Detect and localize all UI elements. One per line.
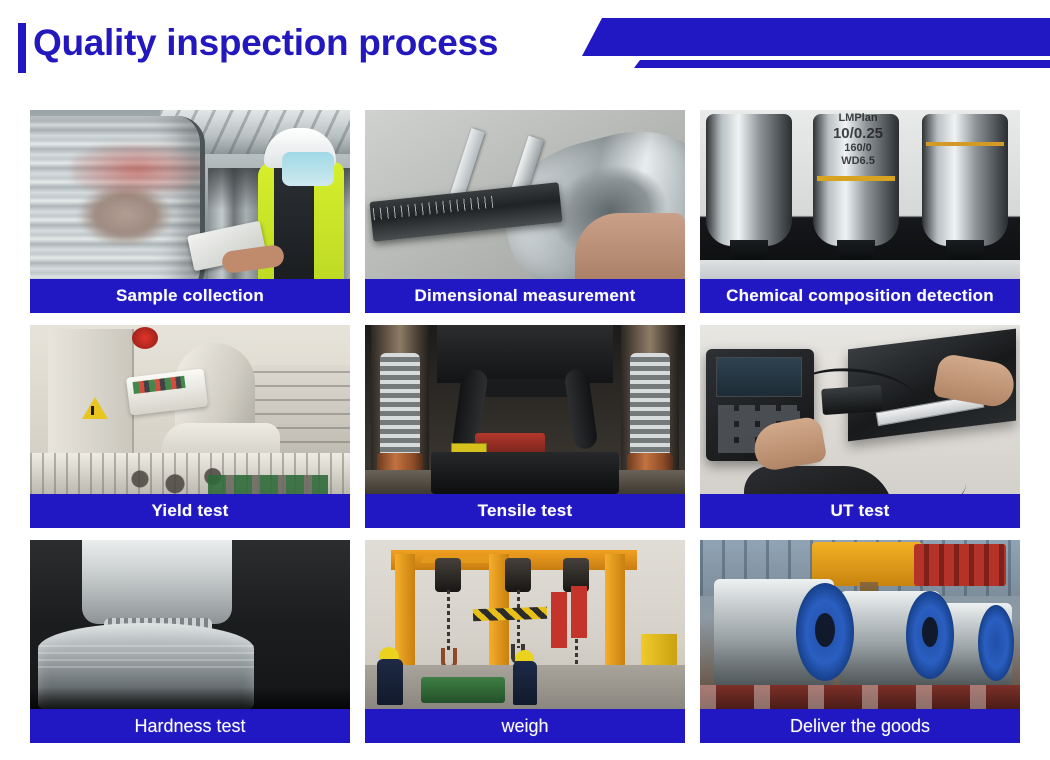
- process-cell-weigh[interactable]: weigh: [365, 540, 685, 743]
- banner-thin-bar: [582, 60, 1050, 68]
- process-cell-chemical-composition-detection[interactable]: LMPlan 10/0.25 160/0 WD6.5 Chemical comp…: [700, 110, 1020, 313]
- page-title: Quality inspection process: [33, 22, 498, 64]
- cell-caption: Hardness test: [30, 709, 350, 743]
- process-cell-hardness-test[interactable]: Hardness test: [30, 540, 350, 743]
- cell-caption: Chemical composition detection: [700, 279, 1020, 313]
- page-header: Quality inspection process: [0, 0, 1050, 96]
- process-cell-sample-collection[interactable]: Sample collection: [30, 110, 350, 313]
- process-cell-tensile-test[interactable]: Tensile test: [365, 325, 685, 528]
- cell-caption: Tensile test: [365, 494, 685, 528]
- title-accent-bar: [18, 23, 26, 73]
- cell-caption: UT test: [700, 494, 1020, 528]
- cell-caption: Sample collection: [30, 279, 350, 313]
- process-cell-ut-test[interactable]: UT test: [700, 325, 1020, 528]
- cell-caption: Dimensional measurement: [365, 279, 685, 313]
- process-cell-deliver-the-goods[interactable]: Deliver the goods: [700, 540, 1020, 743]
- cell-caption: Deliver the goods: [700, 709, 1020, 743]
- cell-caption: Yield test: [30, 494, 350, 528]
- header-banner: [582, 18, 1050, 70]
- microscope-objective-label: LMPlan 10/0.25 160/0 WD6.5: [826, 112, 890, 167]
- process-grid: Sample collection Dimensional measuremen…: [30, 110, 1020, 743]
- banner-thick-bar: [582, 18, 1050, 56]
- process-cell-yield-test[interactable]: Yield test: [30, 325, 350, 528]
- process-cell-dimensional-measurement[interactable]: Dimensional measurement: [365, 110, 685, 313]
- cell-caption: weigh: [365, 709, 685, 743]
